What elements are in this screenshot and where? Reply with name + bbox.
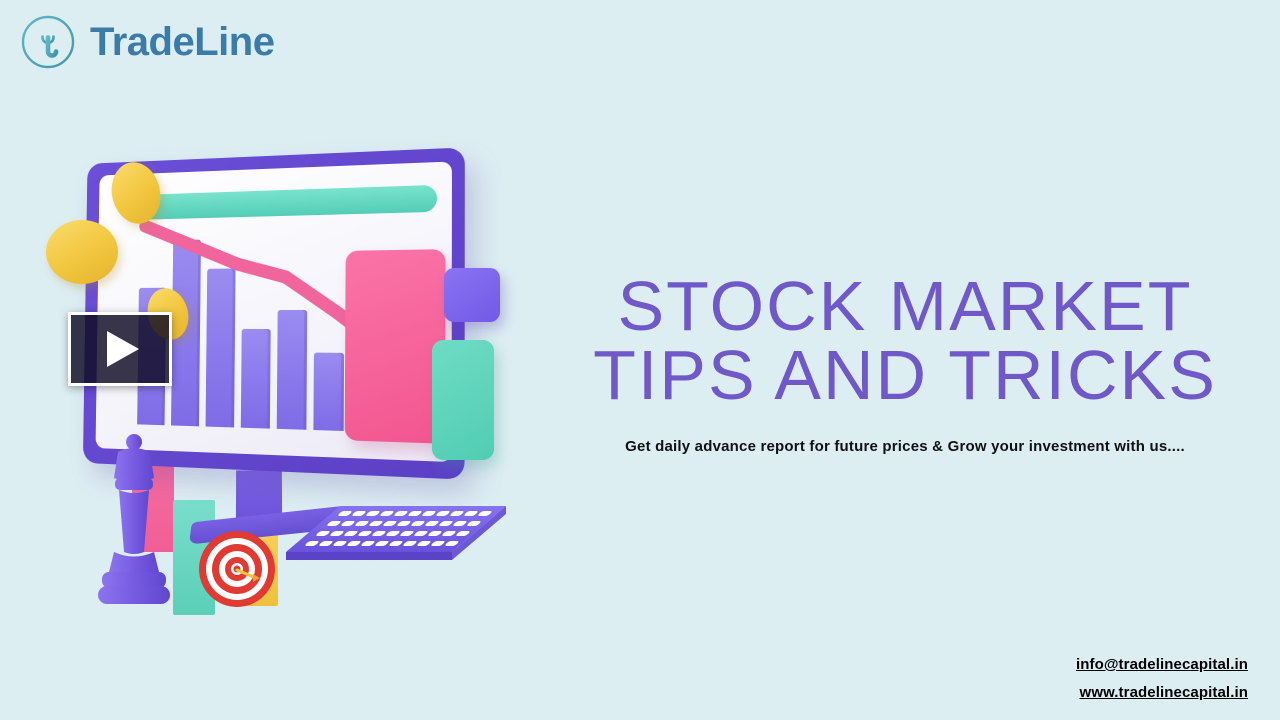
footer-contact: info@tradelinecapital.in www.tradelineca…	[1076, 656, 1248, 712]
keyboard-icon	[282, 502, 510, 570]
page-subtitle: Get daily advance report for future pric…	[560, 438, 1250, 455]
website-link[interactable]: www.tradelinecapital.in	[1076, 684, 1248, 701]
screen-topbar	[122, 185, 437, 220]
floating-card-purple	[444, 268, 500, 322]
slide-canvas: TradeLine	[0, 0, 1280, 720]
email-link[interactable]: info@tradelinecapital.in	[1076, 656, 1248, 673]
play-icon[interactable]	[107, 331, 139, 367]
tradeline-circle-t-logo-icon	[18, 12, 78, 72]
floating-card-teal	[432, 340, 494, 460]
stock-market-illustration	[40, 140, 540, 640]
brand-logo[interactable]: TradeLine	[18, 12, 274, 72]
brand-name: TradeLine	[90, 22, 274, 62]
dart-target-icon	[198, 530, 276, 608]
chess-queen-icon	[88, 430, 180, 610]
screen-pink-panel	[345, 249, 446, 444]
page-title: STOCK MARKET TIPS AND TRICKS	[560, 272, 1250, 411]
coin-icon-2	[46, 220, 118, 284]
video-play-overlay[interactable]	[68, 312, 172, 386]
